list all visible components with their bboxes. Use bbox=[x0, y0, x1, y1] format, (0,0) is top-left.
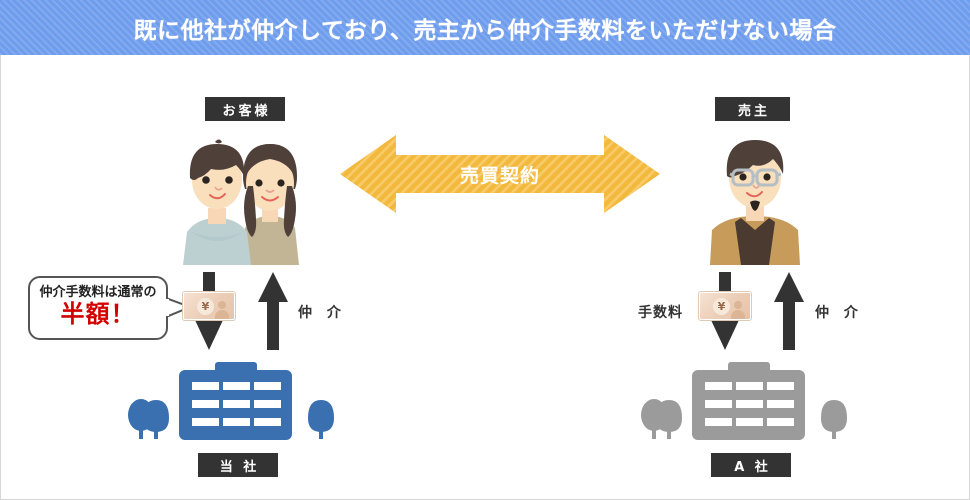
own-company-building-icon bbox=[125, 362, 345, 447]
right-mediation-up-arrow bbox=[774, 272, 804, 350]
own-company-badge-label: 当 社 bbox=[217, 456, 260, 475]
arrow-up-icon bbox=[258, 272, 288, 350]
left-mediation-label: 仲 介 bbox=[298, 302, 346, 322]
seller-badge: 売主 bbox=[715, 97, 790, 121]
page-title: 既に他社が仲介しており、売主から仲介手数料をいただけない場合 bbox=[134, 11, 837, 45]
left-bill-yen-symbol: ¥ bbox=[197, 298, 214, 315]
tree-icon bbox=[821, 400, 847, 439]
man-with-glasses-avatar-icon bbox=[700, 120, 810, 265]
tree-icon bbox=[308, 400, 334, 439]
right-bill-portrait-icon bbox=[731, 299, 745, 319]
other-company-building-icon bbox=[638, 362, 858, 447]
tree-icon bbox=[128, 399, 169, 439]
other-company-badge-label: A 社 bbox=[731, 456, 771, 475]
customer-badge-label: お客様 bbox=[219, 100, 270, 119]
callout-line-1: 仲介手数料は通常の bbox=[39, 285, 156, 301]
diagram-root: 既に他社が仲介しており、売主から仲介手数料をいただけない場合 お客様 bbox=[0, 0, 970, 500]
half-fee-callout: 仲介手数料は通常の 半額！ bbox=[28, 276, 168, 340]
callout-line-2: 半額！ bbox=[61, 301, 136, 329]
own-company-badge: 当 社 bbox=[198, 453, 278, 477]
contract-arrow-label: 売買契約 bbox=[460, 161, 540, 188]
left-mediation-up-arrow bbox=[258, 272, 288, 350]
tree-icon bbox=[641, 399, 682, 439]
left-bill-portrait-icon bbox=[215, 299, 229, 319]
right-mediation-label: 仲 介 bbox=[815, 302, 863, 322]
right-money-bill-yen-icon: ¥ bbox=[699, 292, 751, 320]
seller-badge-label: 売主 bbox=[735, 100, 770, 119]
left-money-bill-yen-icon: ¥ bbox=[183, 292, 235, 320]
arrow-up-icon bbox=[774, 272, 804, 350]
other-company-badge: A 社 bbox=[711, 453, 791, 477]
double-headed-arrow-icon: 売買契約 bbox=[340, 133, 660, 215]
header-banner: 既に他社が仲介しており、売主から仲介手数料をいただけない場合 bbox=[0, 0, 970, 55]
right-fee-label: 手数料 bbox=[638, 302, 683, 322]
couple-avatar-icon bbox=[155, 120, 330, 265]
right-bill-yen-symbol: ¥ bbox=[713, 298, 730, 315]
customer-badge: お客様 bbox=[205, 97, 285, 121]
